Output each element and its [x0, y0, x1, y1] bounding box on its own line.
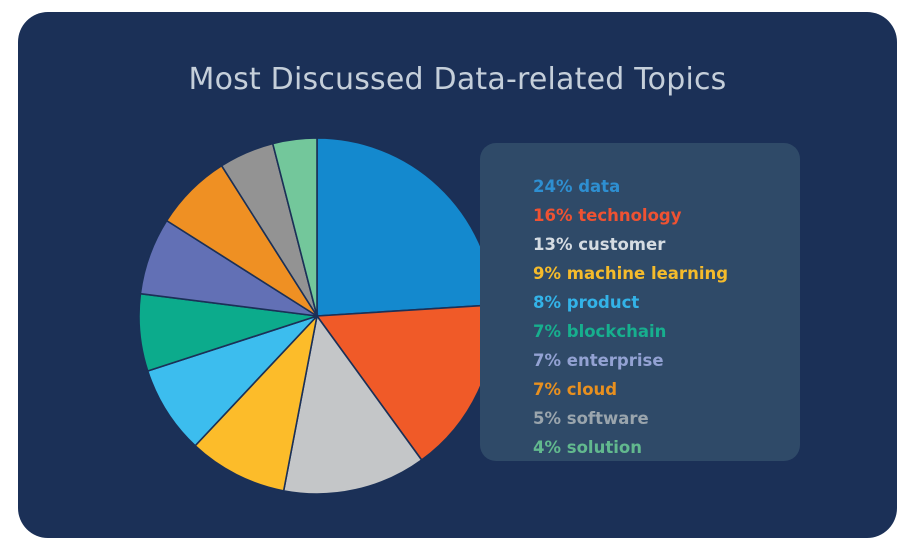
- legend-item-data[interactable]: 24% data: [533, 172, 803, 201]
- legend-item-technology[interactable]: 16% technology: [533, 201, 803, 230]
- legend-list: 24% data16% technology13% customer9% mac…: [533, 172, 803, 462]
- legend-item-software[interactable]: 5% software: [533, 404, 803, 433]
- page-title: Most Discussed Data-related Topics: [18, 62, 897, 97]
- pie-slice-group: [139, 138, 495, 494]
- legend-item-solution[interactable]: 4% solution: [533, 433, 803, 462]
- legend-item-cloud[interactable]: 7% cloud: [533, 375, 803, 404]
- legend-item-blockchain[interactable]: 7% blockchain: [533, 317, 803, 346]
- legend-item-enterprise[interactable]: 7% enterprise: [533, 346, 803, 375]
- pie-chart-svg: [136, 135, 498, 497]
- chart-card: Most Discussed Data-related Topics 24% d…: [18, 12, 897, 538]
- chart-stage: Most Discussed Data-related Topics 24% d…: [0, 0, 915, 549]
- legend-item-customer[interactable]: 13% customer: [533, 230, 803, 259]
- legend-item-machine-learning[interactable]: 9% machine learning: [533, 259, 803, 288]
- pie-chart: [136, 135, 498, 497]
- pie-slice-data[interactable]: [317, 138, 495, 316]
- legend-item-product[interactable]: 8% product: [533, 288, 803, 317]
